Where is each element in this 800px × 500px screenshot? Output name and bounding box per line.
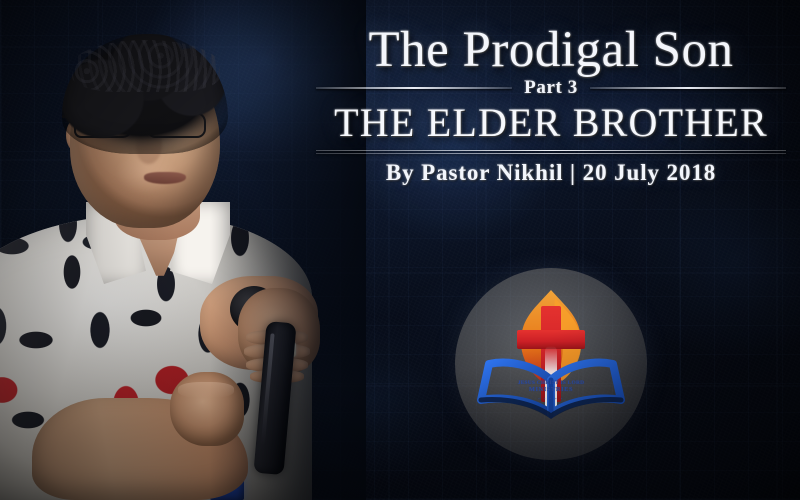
series-title: The Prodigal Son <box>316 26 786 76</box>
divider-rule-left <box>316 87 512 89</box>
part-label: Part 3 <box>522 77 580 99</box>
title-block: The Prodigal Son Part 3 THE ELDER BROTHE… <box>316 26 786 186</box>
credit-divider <box>316 150 786 155</box>
divider-rule-right <box>590 87 786 89</box>
sermon-title-card: JESUS CHRIST IS LORD MINISTRIES • • • • … <box>0 0 800 500</box>
episode-subtitle: THE ELDER BROTHER <box>316 103 786 144</box>
part-divider-row: Part 3 <box>316 78 786 98</box>
speaker-and-date-credit: By Pastor Nikhil | 20 July 2018 <box>316 160 786 186</box>
